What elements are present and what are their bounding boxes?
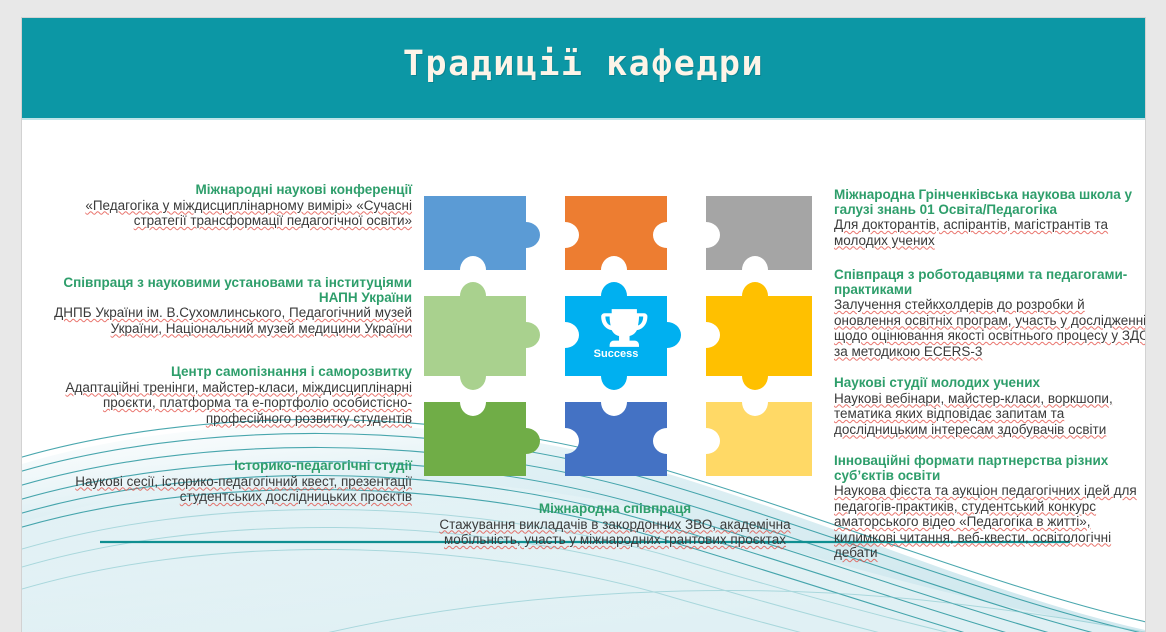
text-block-self-development-center: Центр самопізнання і саморозвитку Адапта… bbox=[52, 365, 412, 426]
puzzle-piece-gold bbox=[706, 282, 812, 390]
block-heading: Міжнародні наукові конференції bbox=[52, 183, 412, 198]
block-heading: Історико-педагогічні студії bbox=[52, 459, 412, 474]
puzzle-piece-gray bbox=[706, 196, 812, 270]
text-block-employers-cooperation: Співпраця з роботодавцями та педагогами-… bbox=[834, 268, 1145, 359]
block-heading: Наукові студії молодих учених bbox=[834, 376, 1145, 391]
block-body: «Педагогіка у міждисциплінарному вимірі»… bbox=[52, 198, 412, 229]
block-heading: Центр самопізнання і саморозвитку bbox=[52, 365, 412, 380]
block-body: Наукова фієста та аукціон педагогічних і… bbox=[834, 483, 1145, 561]
block-body: Адаптаційні тренінги, майстер-класи, між… bbox=[52, 380, 412, 427]
text-block-grinchenko-school: Міжнародна Грінченківська наукова школа … bbox=[834, 188, 1145, 248]
block-heading: Міжнародна Грінченківська наукова школа … bbox=[834, 188, 1145, 217]
page-title: Традиції кафедри bbox=[22, 44, 1145, 84]
puzzle-piece-dark-blue bbox=[565, 402, 667, 476]
block-heading: Інноваційні формати партнерства різних с… bbox=[834, 454, 1145, 483]
text-block-napn-cooperation: Співпраця з науковими установами та інст… bbox=[52, 276, 412, 336]
title-band-underline bbox=[22, 118, 1145, 120]
puzzle-piece-light-green bbox=[424, 282, 540, 390]
text-block-international-cooperation: Міжнародна співпраця Стажування викладач… bbox=[405, 502, 825, 548]
block-heading: Міжнародна співпраця bbox=[405, 502, 825, 517]
block-body: Залучення стейкхолдерів до розробки й он… bbox=[834, 297, 1145, 359]
text-block-historical-studies: Історико-педагогічні студії Наукові сесі… bbox=[52, 459, 412, 505]
slide-canvas: Традиції кафедри bbox=[22, 18, 1145, 632]
block-body: ДНПБ України ім. В.Сухомлинського, Педаг… bbox=[52, 305, 412, 336]
block-body: Наукові сесії, історико-педагогічний кве… bbox=[52, 474, 412, 505]
puzzle-success-label: Success bbox=[594, 348, 639, 360]
puzzle-piece-green bbox=[424, 402, 540, 476]
block-body: Для докторантів, аспірантів, магістранті… bbox=[834, 217, 1145, 248]
block-body: Стажування викладачів в закордонних ЗВО,… bbox=[405, 517, 825, 548]
text-block-conferences: Міжнародні наукові конференції «Педагогі… bbox=[52, 183, 412, 229]
block-heading: Співпраця з науковими установами та інст… bbox=[52, 276, 412, 305]
puzzle-piece-light-yellow bbox=[706, 402, 812, 476]
screenshot-root: Традиції кафедри bbox=[0, 0, 1166, 632]
block-body: Наукові вебінари, майстер-класи, воркшоп… bbox=[834, 391, 1145, 438]
block-heading: Співпраця з роботодавцями та педагогами-… bbox=[834, 268, 1145, 297]
puzzle-graphic: Success bbox=[420, 190, 816, 482]
puzzle-piece-blue bbox=[424, 196, 540, 270]
puzzle-piece-orange bbox=[565, 196, 667, 270]
text-block-young-scholars-studios: Наукові студії молодих учених Наукові ве… bbox=[834, 376, 1145, 437]
text-block-innovative-partnership: Інноваційні формати партнерства різних с… bbox=[834, 454, 1145, 561]
